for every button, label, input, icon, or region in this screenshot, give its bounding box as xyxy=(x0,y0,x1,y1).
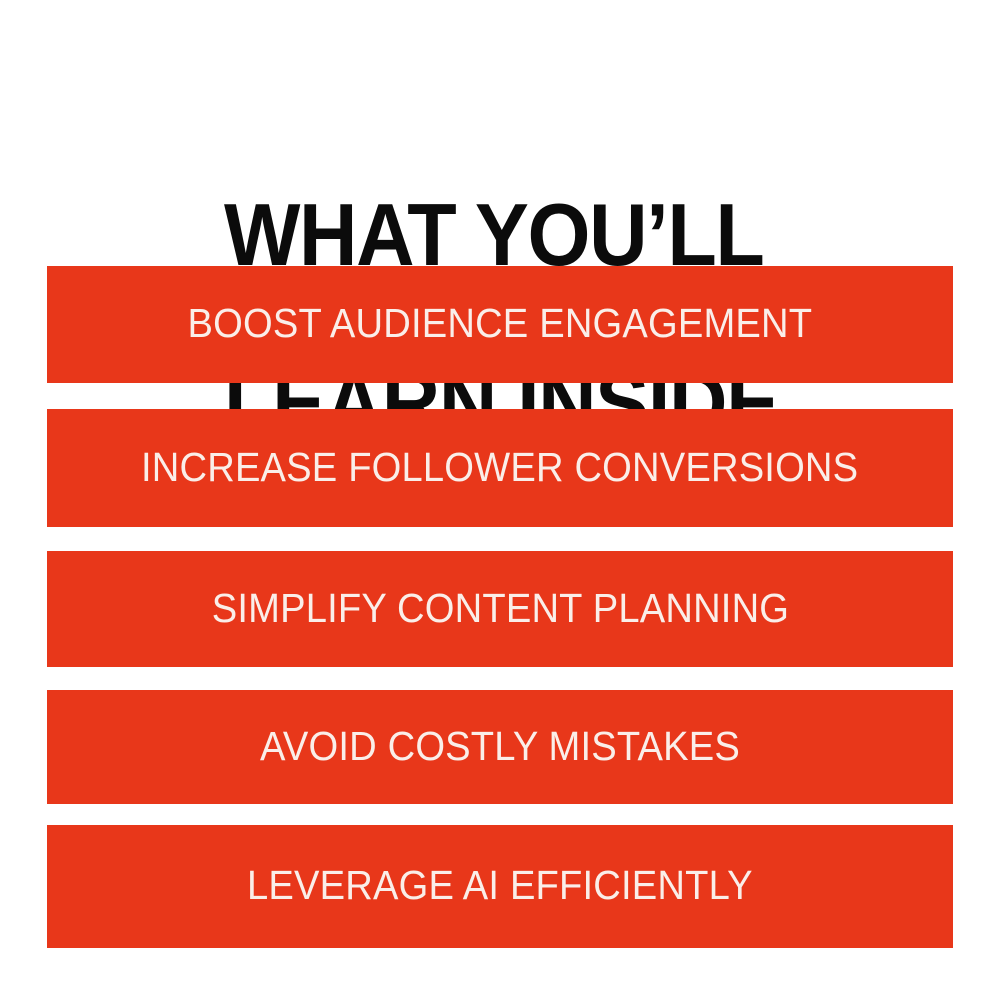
benefit-bar-3-label: SIMPLIFY CONTENT PLANNING xyxy=(211,588,788,631)
benefit-bar-4: AVOID COSTLY MISTAKES xyxy=(47,690,953,804)
benefit-bar-4-label: AVOID COSTLY MISTAKES xyxy=(260,726,740,769)
benefit-bar-1-label: BOOST AUDIENCE ENGAGEMENT xyxy=(188,303,813,346)
benefit-bar-2-label: INCREASE FOLLOWER CONVERSIONS xyxy=(141,447,858,490)
benefit-bar-3: SIMPLIFY CONTENT PLANNING xyxy=(47,551,953,667)
benefit-bar-5-label: LEVERAGE AI EFFICIENTLY xyxy=(247,865,753,908)
poster-canvas: WHAT YOU’LL LEARN INSIDE BOOST AUDIENCE … xyxy=(0,0,1000,1000)
benefit-bar-1: BOOST AUDIENCE ENGAGEMENT xyxy=(47,266,953,383)
page-title-line-1: WHAT YOU’LL xyxy=(224,193,942,277)
benefit-bar-5: LEVERAGE AI EFFICIENTLY xyxy=(47,825,953,948)
benefit-bar-2: INCREASE FOLLOWER CONVERSIONS xyxy=(47,409,953,527)
